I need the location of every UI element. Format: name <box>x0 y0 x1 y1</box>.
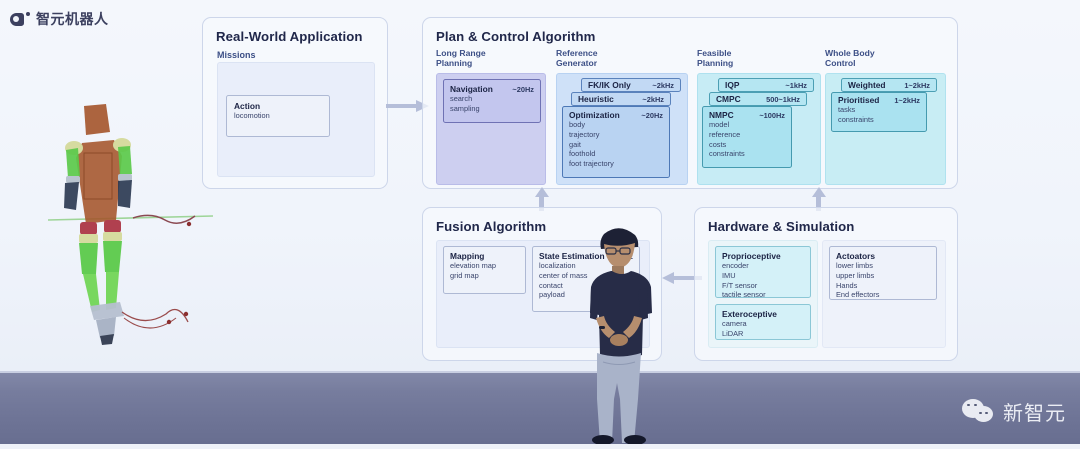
agibot-logo-icon <box>10 12 30 27</box>
panel-title-fusion: Fusion Algorithm <box>436 219 546 234</box>
brand-logo: 智元机器人 <box>10 9 109 29</box>
card-actoators-name: Actoators <box>836 251 875 261</box>
panel-plan-control-algorithm: Plan & Control Algorithm Long Range Plan… <box>422 17 958 189</box>
card-proprioceptive-item-2: F/T sensor <box>722 281 804 291</box>
card-weighted-name: Weighted <box>848 80 886 90</box>
column-feasible-planning: IQP ~1kHz CMPC 500~1kHz NMPC ~100Hz mode… <box>697 73 821 185</box>
card-optimization-item-0: body <box>569 120 663 130</box>
card-proprioceptive-item-1: IMU <box>722 271 804 281</box>
card-iqp[interactable]: IQP ~1kHz <box>718 78 814 92</box>
card-iqp-name: IQP <box>725 80 739 90</box>
card-navigation-item-0: search <box>450 94 534 104</box>
wechat-icon <box>962 399 996 425</box>
panel-title-hardware: Hardware & Simulation <box>708 219 854 234</box>
card-mapping-item-0: elevation map <box>450 261 519 271</box>
card-action-name: Action <box>234 101 260 111</box>
card-nmpc-item-0: model <box>709 120 785 130</box>
brand-name: 智元机器人 <box>36 9 109 29</box>
card-fkik-only-name: FK/IK Only <box>588 80 631 90</box>
sensors-column: Proprioceptive encoder IMU F/T sensor ta… <box>708 240 818 348</box>
missions-column: Action locomotion <box>217 62 375 177</box>
card-iqp-hz: ~1kHz <box>785 81 807 90</box>
card-optimization-item-3: foothold <box>569 149 663 159</box>
card-nmpc-item-2: costs <box>709 140 785 150</box>
card-exteroceptive-item-0: camera <box>722 319 804 329</box>
card-cmpc-name: CMPC <box>716 94 741 104</box>
card-actoators-item-3: End effectors <box>836 290 930 300</box>
card-heuristic-name: Heuristic <box>578 94 614 104</box>
group-label-missions: Missions <box>217 50 256 60</box>
watermark-text: 新智元 <box>1003 397 1066 426</box>
card-nmpc-item-3: constraints <box>709 149 785 159</box>
card-navigation[interactable]: Navigation ~20Hz search sampling <box>443 79 541 123</box>
card-mapping[interactable]: Mapping elevation map grid map <box>443 246 526 294</box>
card-optimization-hz: ~20Hz <box>641 111 663 120</box>
card-exteroceptive-item-1: LiDAR <box>722 329 804 339</box>
card-nmpc-name: NMPC <box>709 110 734 120</box>
card-proprioceptive-item-0: encoder <box>722 261 804 271</box>
wechat-watermark: 新智元 <box>962 397 1066 426</box>
card-mapping-name: Mapping <box>450 251 484 261</box>
card-cmpc[interactable]: CMPC 500~1kHz <box>709 92 807 106</box>
card-prioritised[interactable]: Prioritised 1~2kHz tasks constraints <box>831 92 927 132</box>
card-prioritised-item-1: constraints <box>838 115 920 125</box>
panel-title-real-world: Real-World Application <box>216 29 363 44</box>
panel-title-plan-control: Plan & Control Algorithm <box>436 29 595 44</box>
card-optimization-item-4: foot trajectory <box>569 159 663 169</box>
card-nmpc-item-1: reference <box>709 130 785 140</box>
card-fkik-only[interactable]: FK/IK Only ~2kHz <box>581 78 681 92</box>
card-actoators-item-1: upper limbs <box>836 271 930 281</box>
column-reference-generator: FK/IK Only ~2kHz Heuristic ~2kHz Optimiz… <box>556 73 688 185</box>
group-label-whole-body-control: Whole Body Control <box>825 49 875 69</box>
card-proprioceptive-name: Proprioceptive <box>722 251 781 261</box>
card-exteroceptive-name: Exteroceptive <box>722 309 777 319</box>
card-fkik-only-hz: ~2kHz <box>652 81 674 90</box>
card-heuristic[interactable]: Heuristic ~2kHz <box>571 92 671 106</box>
card-prioritised-name: Prioritised <box>838 95 879 105</box>
card-navigation-name: Navigation <box>450 84 493 94</box>
column-long-range-planning: Navigation ~20Hz search sampling <box>436 73 546 185</box>
card-optimization[interactable]: Optimization ~20Hz body trajectory gait … <box>562 106 670 178</box>
group-label-long-range-planning: Long Range Planning <box>436 49 486 69</box>
card-proprioceptive-item-3: tactile sensor <box>722 290 804 300</box>
panel-real-world-application: Real-World Application Missions Action l… <box>202 17 388 189</box>
card-proprioceptive[interactable]: Proprioceptive encoder IMU F/T sensor ta… <box>715 246 811 298</box>
card-action-item-0: locomotion <box>234 111 322 121</box>
group-label-feasible-planning: Feasible Planning <box>697 49 733 69</box>
card-navigation-hz: ~20Hz <box>512 85 534 94</box>
card-weighted-hz: 1~2kHz <box>904 81 930 90</box>
card-actoators-item-2: Hands <box>836 281 930 291</box>
card-exteroceptive[interactable]: Exteroceptive camera LiDAR <box>715 304 811 340</box>
card-prioritised-hz: 1~2kHz <box>894 96 920 105</box>
card-heuristic-hz: ~2kHz <box>642 95 664 104</box>
card-optimization-name: Optimization <box>569 110 620 120</box>
presenter-person <box>583 222 655 444</box>
card-prioritised-item-0: tasks <box>838 105 920 115</box>
card-actoators-item-0: lower limbs <box>836 261 930 271</box>
actuators-column: Actoators lower limbs upper limbs Hands … <box>822 240 946 348</box>
card-nmpc-hz: ~100Hz <box>759 111 785 120</box>
card-weighted[interactable]: Weighted 1~2kHz <box>841 78 937 92</box>
card-optimization-item-2: gait <box>569 140 663 150</box>
stage-floor <box>0 373 1080 444</box>
panel-hardware-simulation: Hardware & Simulation Proprioceptive enc… <box>694 207 958 361</box>
card-navigation-item-1: sampling <box>450 104 534 114</box>
robot-kinematic-illustration <box>38 98 213 348</box>
card-cmpc-hz: 500~1kHz <box>766 95 800 104</box>
group-label-reference-generator: Reference Generator <box>556 49 598 69</box>
card-actoators[interactable]: Actoators lower limbs upper limbs Hands … <box>829 246 937 300</box>
card-action[interactable]: Action locomotion <box>226 95 330 137</box>
column-whole-body-control: Weighted 1~2kHz Prioritised 1~2kHz tasks… <box>825 73 946 185</box>
card-optimization-item-1: trajectory <box>569 130 663 140</box>
card-nmpc[interactable]: NMPC ~100Hz model reference costs constr… <box>702 106 792 168</box>
card-mapping-item-1: grid map <box>450 271 519 281</box>
